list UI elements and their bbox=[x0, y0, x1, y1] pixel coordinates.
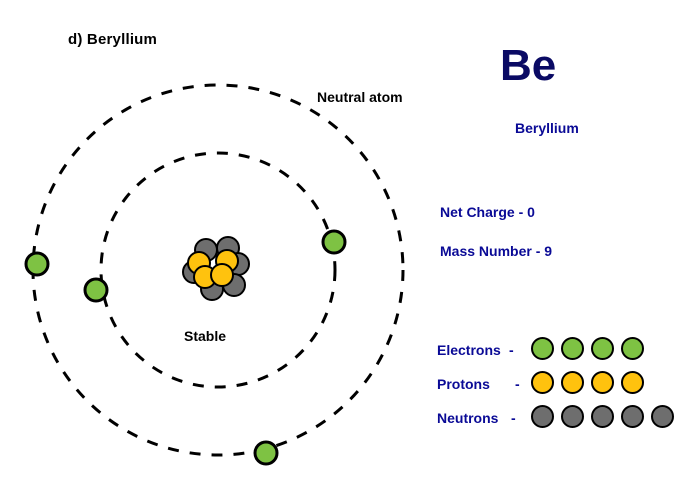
particle-legend: Electrons-Protons-Neutrons- bbox=[437, 337, 680, 439]
legend-dash-neutron: - bbox=[511, 410, 516, 426]
legend-row-neutron: Neutrons- bbox=[437, 405, 680, 439]
element-name: Beryllium bbox=[515, 120, 579, 136]
neutron-dot bbox=[621, 405, 644, 428]
legend-row-proton: Protons- bbox=[437, 371, 680, 405]
mass-number-text: Mass Number - 9 bbox=[440, 243, 552, 259]
orbiting-electron bbox=[255, 442, 277, 464]
neutron-dot bbox=[651, 405, 674, 428]
neutron-dot bbox=[561, 405, 584, 428]
net-charge-text: Net Charge - 0 bbox=[440, 204, 535, 220]
orbiting-electron bbox=[85, 279, 107, 301]
legend-label-electron: Electrons bbox=[437, 342, 501, 358]
electron-dot bbox=[531, 337, 554, 360]
legend-dots-proton bbox=[531, 371, 644, 394]
nucleus bbox=[183, 237, 249, 300]
legend-dash-electron: - bbox=[509, 342, 514, 358]
nucleus-proton bbox=[211, 264, 233, 286]
proton-dot bbox=[591, 371, 614, 394]
electron-dot bbox=[591, 337, 614, 360]
neutron-dot bbox=[531, 405, 554, 428]
legend-label-proton: Protons bbox=[437, 376, 490, 392]
element-symbol: Be bbox=[500, 44, 556, 88]
electron-dot bbox=[561, 337, 584, 360]
proton-dot bbox=[561, 371, 584, 394]
proton-dot bbox=[621, 371, 644, 394]
orbiting-electron bbox=[26, 253, 48, 275]
legend-dots-neutron bbox=[531, 405, 674, 428]
legend-dash-proton: - bbox=[515, 376, 520, 392]
neutral-atom-annotation: Neutral atom bbox=[317, 89, 403, 105]
orbiting-electron bbox=[323, 231, 345, 253]
legend-row-electron: Electrons- bbox=[437, 337, 680, 371]
stable-annotation: Stable bbox=[184, 328, 226, 344]
neutron-dot bbox=[591, 405, 614, 428]
legend-label-neutron: Neutrons bbox=[437, 410, 498, 426]
legend-dots-electron bbox=[531, 337, 644, 360]
atom-diagram-figure: d) Beryllium Neutral atom Stable Be Bery… bbox=[0, 0, 680, 485]
proton-dot bbox=[531, 371, 554, 394]
electron-dot bbox=[621, 337, 644, 360]
